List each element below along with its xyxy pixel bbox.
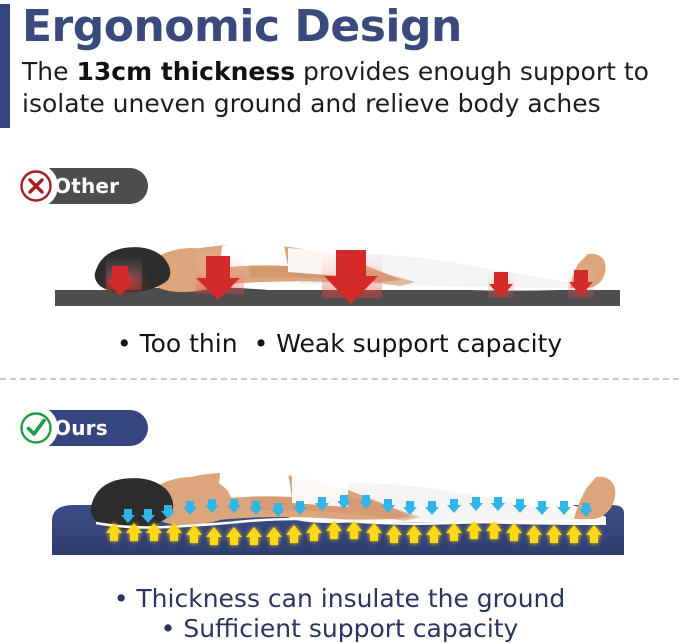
- subtitle-prefix: The: [22, 57, 76, 86]
- page-title: Ergonomic Design: [22, 0, 462, 54]
- illustration-thick-mattress: [0, 455, 679, 575]
- badge-ours: Ours: [18, 410, 148, 446]
- check-circle-icon: [14, 406, 58, 450]
- infographic-page: Ergonomic Design The 13cm thickness prov…: [0, 0, 679, 644]
- header: Ergonomic Design The 13cm thickness prov…: [0, 0, 679, 134]
- cross-circle-icon: [14, 164, 58, 208]
- caption-ours-line-1: • Thickness can insulate the ground: [0, 584, 679, 614]
- caption-ours: • Thickness can insulate the ground • Su…: [0, 584, 679, 644]
- caption-other-bullet-1: • Too thin: [117, 329, 238, 358]
- badge-other-label: Other: [54, 176, 119, 196]
- caption-other-bullet-2: • Weak support capacity: [254, 329, 563, 358]
- section-divider: [0, 378, 679, 380]
- illustration-thin-mat: [0, 218, 679, 323]
- badge-other: Other: [18, 168, 148, 204]
- caption-other: • Too thin• Weak support capacity: [0, 328, 679, 360]
- caption-ours-line-2: • Sufficient support capacity: [0, 614, 679, 644]
- badge-ours-label: Ours: [54, 418, 108, 438]
- header-accent-bar: [0, 4, 10, 128]
- subtitle-highlight: 13cm thickness: [76, 57, 295, 86]
- page-subtitle: The 13cm thickness provides enough suppo…: [22, 56, 652, 120]
